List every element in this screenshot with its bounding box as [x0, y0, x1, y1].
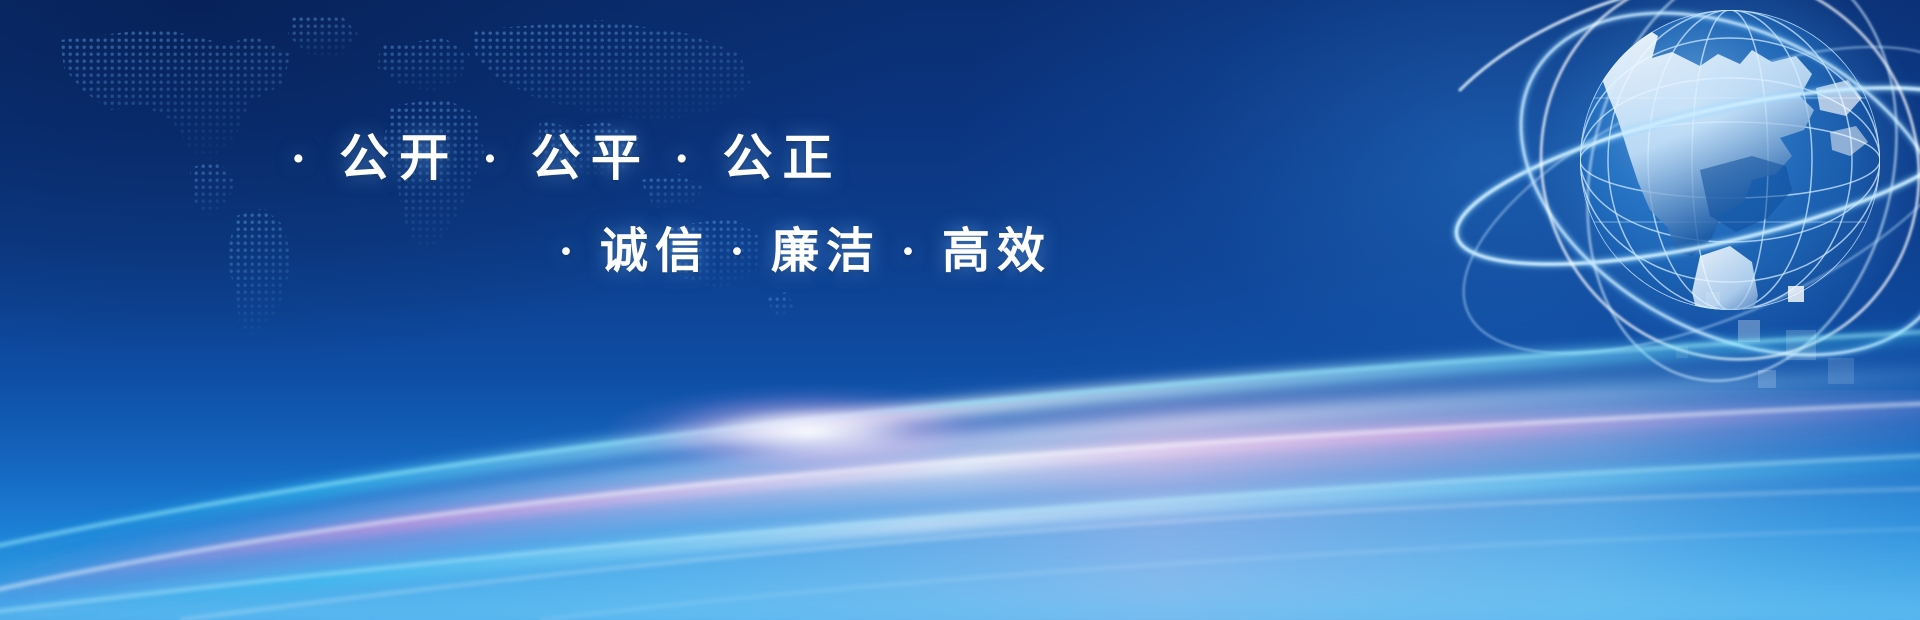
headline-block: · 公开 · 公平 · 公正 · 诚信 · 廉洁 · 高效	[0, 132, 1080, 278]
headline-line-1: · 公开 · 公平 · 公正	[0, 132, 1080, 185]
promotional-banner: · 公开 · 公平 · 公正 · 诚信 · 廉洁 · 高效	[0, 0, 1920, 620]
headline-line-2: · 诚信 · 廉洁 · 高效	[0, 227, 1080, 278]
light-streak-waves	[0, 290, 1920, 620]
